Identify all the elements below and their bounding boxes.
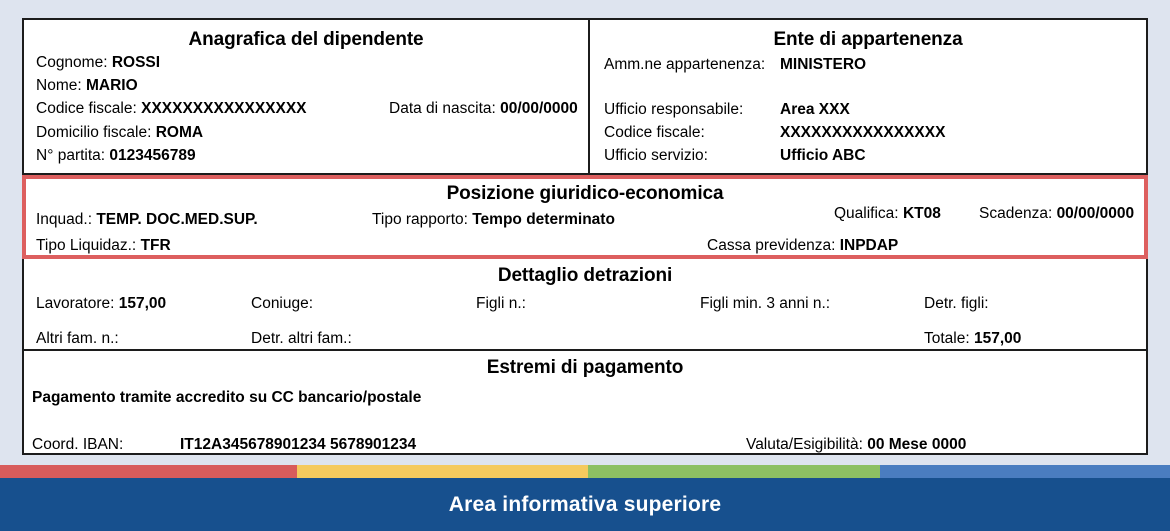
anagrafica-title: Anagrafica del dipendente <box>24 27 588 52</box>
field-detrazioni-totale: Totale: 157,00 <box>924 330 1021 348</box>
field-detr-figli-min3-label: Figli min. 3 anni n.: <box>700 295 830 312</box>
field-qualifica-label: Qualifica: <box>834 205 899 222</box>
field-tipo-rapporto: Tipo rapporto: Tempo determinato <box>372 211 615 229</box>
field-tipo-liquidazione: Tipo Liquidaz.: TFR <box>36 237 171 255</box>
field-nome-label: Nome: <box>36 77 82 94</box>
field-detrazioni-totale-label: Totale: <box>924 330 970 347</box>
field-cognome-value: ROSSI <box>112 54 160 71</box>
field-cognome-label: Cognome: <box>36 54 108 71</box>
stripe-segment-yellow <box>297 465 588 478</box>
field-data-nascita-value: 00/00/0000 <box>500 100 578 117</box>
color-stripe-bar <box>0 465 1170 478</box>
field-domicilio-fiscale: Domicilio fiscale: ROMA <box>36 124 203 142</box>
field-detr-figli-min3: Figli min. 3 anni n.: <box>700 295 830 313</box>
field-cassa-previdenza-label: Cassa previdenza: <box>707 237 835 254</box>
field-modalita-pagamento: Pagamento tramite accredito su CC bancar… <box>32 389 421 407</box>
field-qualifica: Qualifica: KT08 <box>834 205 941 223</box>
field-tipo-liquidazione-value: TFR <box>141 237 171 254</box>
field-detr-figli-numero-label: Figli n.: <box>476 295 526 312</box>
field-cassa-previdenza-value: INPDAP <box>840 237 899 254</box>
field-tipo-liquidazione-label: Tipo Liquidaz.: <box>36 237 136 254</box>
pagamento-title: Estremi di pagamento <box>24 351 1146 380</box>
field-domicilio-fiscale-value: ROMA <box>156 124 203 141</box>
row-header-info: Anagrafica del dipendente Cognome: ROSSI… <box>24 20 1146 175</box>
row-estremi-pagamento: Estremi di pagamento Pagamento tramite a… <box>24 351 1146 451</box>
field-nome-value: MARIO <box>86 77 138 94</box>
field-detr-lavoratore-label: Lavoratore: <box>36 295 114 312</box>
field-numero-partita-label: N° partita: <box>36 147 105 164</box>
field-nome: Nome: MARIO <box>36 77 138 95</box>
field-ufficio-servizio-value: Ufficio ABC <box>780 147 866 165</box>
panel-posizione: Posizione giuridico-economica Inquad.: T… <box>24 175 1146 257</box>
field-data-nascita-label: Data di nascita: <box>389 100 496 117</box>
panel-anagrafica: Anagrafica del dipendente Cognome: ROSSI… <box>24 20 590 173</box>
field-codice-fiscale-dipendente: Codice fiscale: XXXXXXXXXXXXXXXX <box>36 100 307 118</box>
ente-title: Ente di appartenenza <box>590 27 1146 52</box>
field-valuta-esigibilita-value: 00 Mese 0000 <box>867 436 966 453</box>
row-dettaglio-detrazioni: Dettaglio detrazioni Lavoratore: 157,00 … <box>24 259 1146 351</box>
field-codice-fiscale-ente-value: XXXXXXXXXXXXXXXX <box>780 124 945 142</box>
field-tipo-rapporto-value: Tempo determinato <box>472 211 615 228</box>
field-ufficio-responsabile-label: Ufficio responsabile: <box>604 101 743 119</box>
row-posizione-giuridico-economica: Posizione giuridico-economica Inquad.: T… <box>24 175 1146 259</box>
field-iban-label: Coord. IBAN: <box>32 436 123 454</box>
field-amministrazione-value: MINISTERO <box>780 56 866 74</box>
field-scadenza: Scadenza: 00/00/0000 <box>979 205 1134 223</box>
field-detr-coniuge-label: Coniuge: <box>251 295 313 312</box>
field-data-nascita: Data di nascita: 00/00/0000 <box>389 100 578 118</box>
field-ufficio-servizio-label: Ufficio servizio: <box>604 147 708 165</box>
field-cognome: Cognome: ROSSI <box>36 54 160 72</box>
field-amministrazione-label: Amm.ne appartenenza: <box>604 56 765 74</box>
panel-ente: Ente di appartenenza Amm.ne appartenenza… <box>590 20 1146 173</box>
field-detr-altri-familiari: Detr. altri fam.: <box>251 330 352 348</box>
field-inquadramento: Inquad.: TEMP. DOC.MED.SUP. <box>36 211 258 229</box>
field-qualifica-value: KT08 <box>903 205 941 222</box>
field-detr-lavoratore: Lavoratore: 157,00 <box>36 295 166 313</box>
panel-detrazioni: Dettaglio detrazioni Lavoratore: 157,00 … <box>24 259 1146 349</box>
field-codice-fiscale-dipendente-label: Codice fiscale: <box>36 100 137 117</box>
field-detr-figli-importo-label: Detr. figli: <box>924 295 989 312</box>
panel-pagamento: Estremi di pagamento Pagamento tramite a… <box>24 351 1146 451</box>
field-detrazioni-totale-value: 157,00 <box>974 330 1021 347</box>
field-altri-familiari-label: Altri fam. n.: <box>36 330 119 347</box>
field-detr-figli-importo: Detr. figli: <box>924 295 989 313</box>
field-cassa-previdenza: Cassa previdenza: INPDAP <box>707 237 898 255</box>
field-detr-lavoratore-value: 157,00 <box>119 295 166 312</box>
field-detr-coniuge: Coniuge: <box>251 295 313 313</box>
posizione-title: Posizione giuridico-economica <box>24 175 1146 206</box>
field-numero-partita-value: 0123456789 <box>109 147 195 164</box>
footer-banner: Area informativa superiore <box>0 478 1170 531</box>
footer-banner-label: Area informativa superiore <box>449 493 721 517</box>
payslip-document: Anagrafica del dipendente Cognome: ROSSI… <box>22 18 1148 455</box>
field-scadenza-value: 00/00/0000 <box>1057 205 1135 222</box>
stripe-segment-green <box>588 465 880 478</box>
field-scadenza-label: Scadenza: <box>979 205 1052 222</box>
stripe-segment-red <box>0 465 297 478</box>
field-numero-partita: N° partita: 0123456789 <box>36 147 196 165</box>
field-codice-fiscale-ente-label: Codice fiscale: <box>604 124 705 142</box>
field-iban-value: IT12A345678901234 5678901234 <box>180 436 416 454</box>
field-detr-altri-familiari-label: Detr. altri fam.: <box>251 330 352 347</box>
field-detr-figli: Figli n.: <box>476 295 526 313</box>
field-altri-familiari: Altri fam. n.: <box>36 330 119 348</box>
field-inquadramento-label: Inquad.: <box>36 211 92 228</box>
field-ufficio-responsabile-value: Area XXX <box>780 101 850 119</box>
field-valuta-esigibilita-label: Valuta/Esigibilità: <box>746 436 863 453</box>
field-inquadramento-value: TEMP. DOC.MED.SUP. <box>96 211 257 228</box>
field-tipo-rapporto-label: Tipo rapporto: <box>372 211 468 228</box>
field-valuta-esigibilita: Valuta/Esigibilità: 00 Mese 0000 <box>746 436 966 454</box>
field-codice-fiscale-dipendente-value: XXXXXXXXXXXXXXXX <box>141 100 306 117</box>
field-domicilio-fiscale-label: Domicilio fiscale: <box>36 124 151 141</box>
detrazioni-title: Dettaglio detrazioni <box>24 259 1146 288</box>
stripe-segment-blue <box>880 465 1170 478</box>
